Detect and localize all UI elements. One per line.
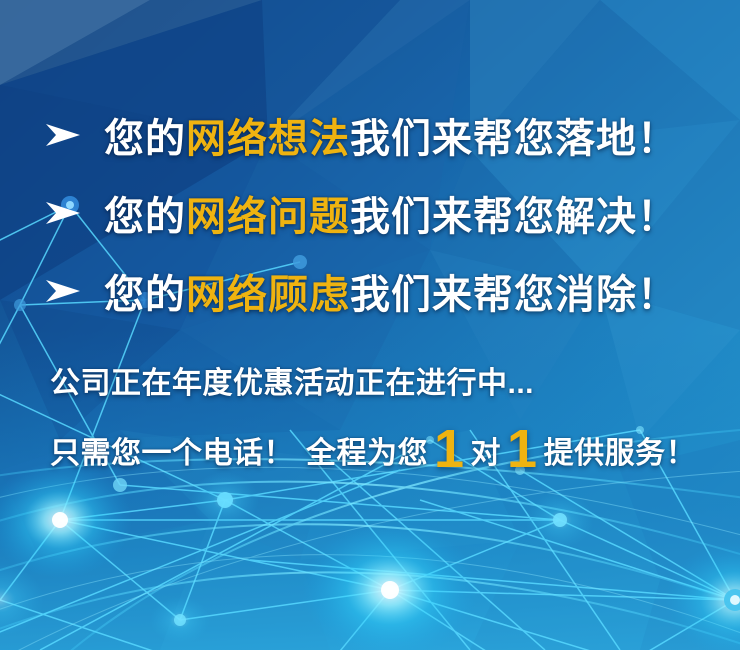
bullet-highlight: 网络问题 xyxy=(186,195,350,239)
bullet-highlight: 网络顾虑 xyxy=(186,273,350,317)
promo-line: 公司正在年度优惠活动正在进行中... xyxy=(50,358,534,402)
bullet-row: 您的网络问题我们来帮您解决！ xyxy=(0,174,740,252)
bullet-row: 您的网络顾虑我们来帮您消除！ xyxy=(0,252,740,330)
bullet-suffix: 我们来帮您消除！ xyxy=(350,273,678,317)
arrow-right-icon xyxy=(44,200,82,226)
bullet-suffix: 我们来帮您解决！ xyxy=(350,195,678,239)
arrow-right-icon xyxy=(44,278,82,304)
bullet-prefix: 您的 xyxy=(104,117,186,161)
cta-part3: 提供服务！ xyxy=(544,428,697,472)
cta-line: 只需您一个电话！ 全程为您 1 对 1 提供服务！ xyxy=(50,424,696,472)
bullet-prefix: 您的 xyxy=(104,273,186,317)
cta-middle: 对 xyxy=(471,428,502,472)
banner-content: 您的网络想法我们来帮您落地！ 您的网络问题我们来帮您解决！ 您的网络 xyxy=(0,0,740,650)
bullet-row: 您的网络想法我们来帮您落地！ xyxy=(0,96,740,174)
bullet-highlight: 网络想法 xyxy=(186,117,350,161)
arrow-right-icon xyxy=(44,122,82,148)
promo-banner: 您的网络想法我们来帮您落地！ 您的网络问题我们来帮您解决！ 您的网络 xyxy=(0,0,740,650)
bullet-prefix: 您的 xyxy=(104,195,186,239)
cta-number-one-first: 1 xyxy=(434,428,465,471)
bullet-text: 您的网络顾虑我们来帮您消除！ xyxy=(104,262,678,320)
bullet-suffix: 我们来帮您落地！ xyxy=(350,117,678,161)
cta-part1: 只需您一个电话！ xyxy=(50,428,294,472)
cta-part2: 全程为您 xyxy=(306,428,428,472)
cta-number-one-second: 1 xyxy=(507,428,538,471)
bullet-list: 您的网络想法我们来帮您落地！ 您的网络问题我们来帮您解决！ 您的网络 xyxy=(0,96,740,330)
bullet-text: 您的网络想法我们来帮您落地！ xyxy=(104,106,678,164)
bullet-text: 您的网络问题我们来帮您解决！ xyxy=(104,184,678,242)
